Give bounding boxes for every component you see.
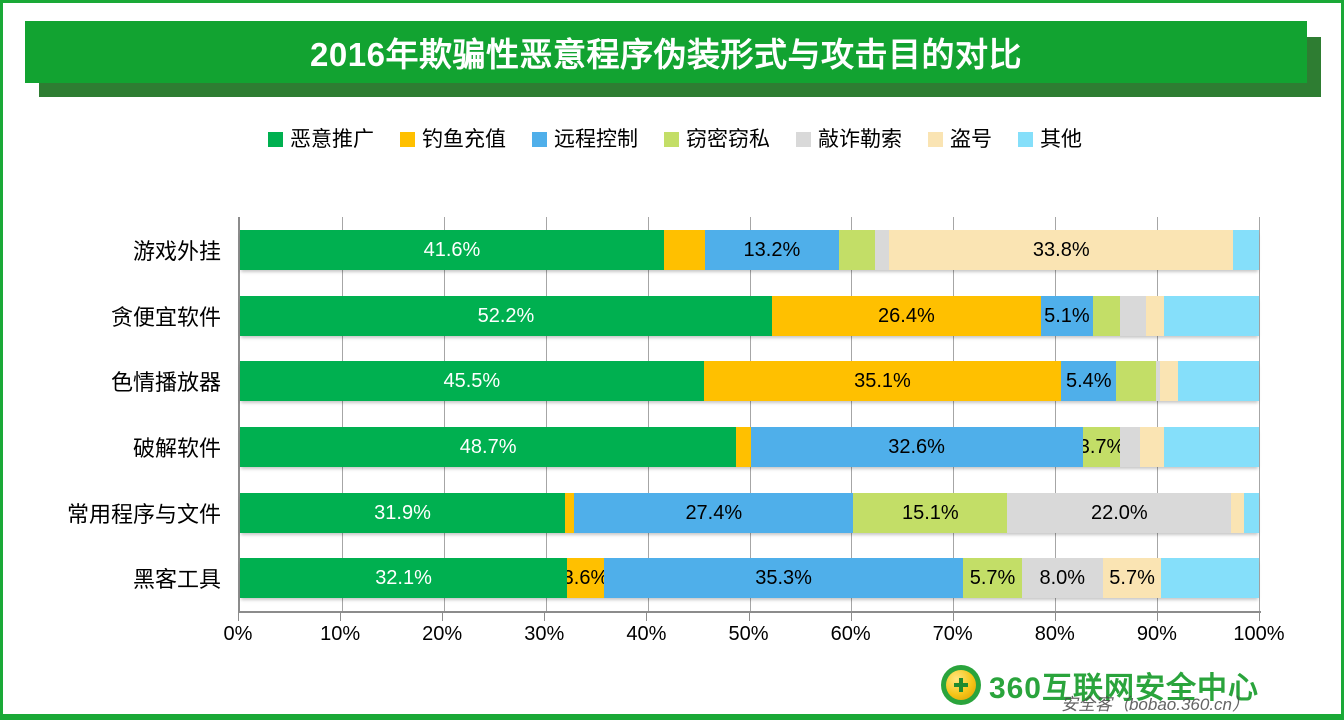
axis-tick-label: 50% <box>728 623 768 646</box>
bar-segment[interactable] <box>875 230 889 270</box>
legend-item[interactable]: 窃密窃私 <box>664 129 770 150</box>
axis-tick <box>1157 613 1158 621</box>
bar-segment[interactable]: 15.1% <box>853 493 1007 533</box>
bar-segment[interactable] <box>1244 493 1259 533</box>
bar-segment[interactable]: 3.6% <box>567 558 604 598</box>
legend-item-label: 钓鱼充值 <box>422 129 506 150</box>
bar-segment-value: 5.4% <box>1066 371 1112 391</box>
bar-segment-value: 5.7% <box>970 568 1016 588</box>
bar-row: 48.7%32.6%3.7% <box>240 414 1259 480</box>
bar-row: 41.6%13.2%33.8% <box>240 217 1259 283</box>
bar-segment-value: 52.2% <box>478 306 535 326</box>
footer-divider <box>3 714 1341 717</box>
bar-segment[interactable]: 8.0% <box>1022 558 1104 598</box>
bar-row: 31.9%27.4%15.1%22.0% <box>240 480 1259 546</box>
bar-segment[interactable]: 35.3% <box>604 558 964 598</box>
axis-tick <box>646 613 647 621</box>
chart-area: 游戏外挂贪便宜软件色情播放器破解软件常用程序与文件黑客工具 41.6%13.2%… <box>3 203 1344 653</box>
bar-segment-value: 5.1% <box>1044 306 1090 326</box>
bar-segment[interactable] <box>565 493 574 533</box>
bar-segment-value: 26.4% <box>878 306 935 326</box>
bar-segment[interactable]: 48.7% <box>240 427 736 467</box>
legend-swatch-icon <box>1018 132 1033 147</box>
axis-tick-label: 80% <box>1035 623 1075 646</box>
bar-segment[interactable] <box>736 427 750 467</box>
bar-segment-value: 22.0% <box>1091 503 1148 523</box>
bar-segment-value: 31.9% <box>374 503 431 523</box>
plot-area: 41.6%13.2%33.8%52.2%26.4%5.1%45.5%35.1%5… <box>238 217 1259 611</box>
axis-tick <box>238 613 239 621</box>
axis-tick-label: 20% <box>422 623 462 646</box>
bar-segment[interactable]: 32.6% <box>751 427 1083 467</box>
legend-item-label: 敲诈勒索 <box>818 129 902 150</box>
legend-item[interactable]: 恶意推广 <box>268 129 374 150</box>
bar-segment[interactable]: 5.1% <box>1041 296 1093 336</box>
legend-swatch-icon <box>664 132 679 147</box>
watermark-text: 安全客（bobao.360.cn） <box>1061 690 1249 715</box>
shield-badge-icon <box>941 665 981 705</box>
axis-tick-label: 40% <box>626 623 666 646</box>
bar-segment-value: 13.2% <box>744 240 801 260</box>
legend-item[interactable]: 其他 <box>1018 129 1082 150</box>
legend-item-label: 盗号 <box>950 129 992 150</box>
legend-item-label: 恶意推广 <box>290 129 374 150</box>
bar-row: 45.5%35.1%5.4% <box>240 348 1259 414</box>
page-title: 2016年欺骗性恶意程序伪装形式与攻击目的对比 <box>310 28 1022 76</box>
footer: 360互联网安全中心 安全客（bobao.360.cn） <box>3 655 1341 717</box>
bar-segment[interactable]: 13.2% <box>705 230 840 270</box>
bar-rows: 41.6%13.2%33.8%52.2%26.4%5.1%45.5%35.1%5… <box>240 217 1259 611</box>
category-axis-labels: 游戏外挂贪便宜软件色情播放器破解软件常用程序与文件黑客工具 <box>63 217 235 611</box>
bar-segment[interactable] <box>1120 427 1139 467</box>
bar-segment-value: 48.7% <box>460 437 517 457</box>
bar-segment[interactable]: 32.1% <box>240 558 567 598</box>
axis-tick <box>851 613 852 621</box>
bar-segment-value: 3.7% <box>1083 437 1121 457</box>
legend-swatch-icon <box>400 132 415 147</box>
category-label: 游戏外挂 <box>63 217 235 283</box>
bar-segment[interactable] <box>664 230 705 270</box>
axis-tick-label: 90% <box>1137 623 1177 646</box>
chart-page: 2016年欺骗性恶意程序伪装形式与攻击目的对比 恶意推广钓鱼充值远程控制窃密窃私… <box>0 0 1344 720</box>
bar-row: 32.1%3.6%35.3%5.7%8.0%5.7% <box>240 545 1259 611</box>
bar-row: 52.2%26.4%5.1% <box>240 283 1259 349</box>
bar-segment-value: 8.0% <box>1040 568 1086 588</box>
bar-segment-value: 27.4% <box>685 503 742 523</box>
bar-segment[interactable] <box>1178 361 1259 401</box>
axis-tick <box>340 613 341 621</box>
axis-tick <box>1259 613 1260 621</box>
bar-segment-value: 45.5% <box>443 371 500 391</box>
bar-segment-value: 15.1% <box>902 503 959 523</box>
category-label: 黑客工具 <box>63 545 235 611</box>
legend-swatch-icon <box>796 132 811 147</box>
legend-item-label: 远程控制 <box>554 129 638 150</box>
axis-tick-label: 60% <box>831 623 871 646</box>
bar-segment[interactable]: 3.7% <box>1083 427 1121 467</box>
axis-tick <box>953 613 954 621</box>
bar-segment-value: 3.6% <box>567 568 604 588</box>
bar-segment-value: 35.1% <box>854 371 911 391</box>
legend-swatch-icon <box>268 132 283 147</box>
bar-segment-value: 41.6% <box>424 240 481 260</box>
bar-segment[interactable] <box>1233 230 1258 270</box>
bar-segment[interactable] <box>1231 493 1243 533</box>
bar-segment[interactable]: 27.4% <box>574 493 853 533</box>
stacked-bar[interactable]: 45.5%35.1%5.4% <box>240 361 1259 401</box>
axis-tick <box>544 613 545 621</box>
bar-segment[interactable]: 35.1% <box>704 361 1062 401</box>
category-label: 色情播放器 <box>63 348 235 414</box>
bar-segment-value: 32.6% <box>888 437 945 457</box>
axis-tick-label: 70% <box>933 623 973 646</box>
bar-segment[interactable]: 52.2% <box>240 296 772 336</box>
legend-item[interactable]: 敲诈勒索 <box>796 129 902 150</box>
bar-segment[interactable] <box>1161 558 1259 598</box>
axis-tick-label: 30% <box>524 623 564 646</box>
gridline <box>1259 217 1260 611</box>
bar-segment[interactable]: 5.7% <box>963 558 1021 598</box>
value-axis: 0%10%20%30%40%50%60%70%80%90%100% <box>238 613 1259 653</box>
stacked-bar[interactable]: 32.1%3.6%35.3%5.7%8.0%5.7% <box>240 558 1259 598</box>
bar-segment[interactable]: 41.6% <box>240 230 664 270</box>
category-label: 贪便宜软件 <box>63 283 235 349</box>
bar-segment-value: 35.3% <box>755 568 812 588</box>
bar-segment-value: 33.8% <box>1033 240 1090 260</box>
bar-segment[interactable] <box>1120 296 1145 336</box>
stacked-bar[interactable]: 48.7%32.6%3.7% <box>240 427 1259 467</box>
stacked-bar[interactable]: 41.6%13.2%33.8% <box>240 230 1259 270</box>
bar-segment[interactable]: 26.4% <box>772 296 1041 336</box>
bar-segment-value: 32.1% <box>375 568 432 588</box>
legend-item[interactable]: 盗号 <box>928 129 992 150</box>
bar-segment[interactable]: 5.7% <box>1103 558 1161 598</box>
bar-segment-value: 5.7% <box>1109 568 1155 588</box>
legend-item[interactable]: 远程控制 <box>532 129 638 150</box>
bar-segment[interactable] <box>1164 427 1259 467</box>
bar-segment[interactable] <box>1116 361 1156 401</box>
legend-item-label: 其他 <box>1040 129 1082 150</box>
category-label: 常用程序与文件 <box>63 480 235 546</box>
legend-swatch-icon <box>532 132 547 147</box>
title-banner-bar: 2016年欺骗性恶意程序伪装形式与攻击目的对比 <box>25 21 1307 83</box>
axis-tick-label: 10% <box>320 623 360 646</box>
bar-segment[interactable]: 31.9% <box>240 493 565 533</box>
bar-segment[interactable] <box>1146 296 1164 336</box>
chart-legend: 恶意推广钓鱼充值远程控制窃密窃私敲诈勒索盗号其他 <box>3 129 1344 150</box>
title-banner: 2016年欺骗性恶意程序伪装形式与攻击目的对比 <box>25 21 1321 97</box>
bar-segment[interactable] <box>1164 296 1259 336</box>
axis-tick <box>442 613 443 621</box>
bar-segment[interactable] <box>1140 427 1164 467</box>
stacked-bar[interactable]: 52.2%26.4%5.1% <box>240 296 1259 336</box>
legend-item-label: 窃密窃私 <box>686 129 770 150</box>
axis-tick <box>1055 613 1056 621</box>
bar-segment[interactable] <box>1093 296 1121 336</box>
stacked-bar[interactable]: 31.9%27.4%15.1%22.0% <box>240 493 1259 533</box>
axis-tick <box>749 613 750 621</box>
axis-tick-label: 0% <box>224 623 253 646</box>
legend-swatch-icon <box>928 132 943 147</box>
category-label: 破解软件 <box>63 414 235 480</box>
bar-segment[interactable]: 45.5% <box>240 361 704 401</box>
bar-segment[interactable] <box>839 230 875 270</box>
bar-segment[interactable]: 5.4% <box>1061 361 1116 401</box>
bar-segment[interactable]: 22.0% <box>1007 493 1231 533</box>
bar-segment[interactable]: 33.8% <box>889 230 1233 270</box>
axis-tick-label: 100% <box>1233 623 1284 646</box>
legend-item[interactable]: 钓鱼充值 <box>400 129 506 150</box>
bar-segment[interactable] <box>1160 361 1178 401</box>
